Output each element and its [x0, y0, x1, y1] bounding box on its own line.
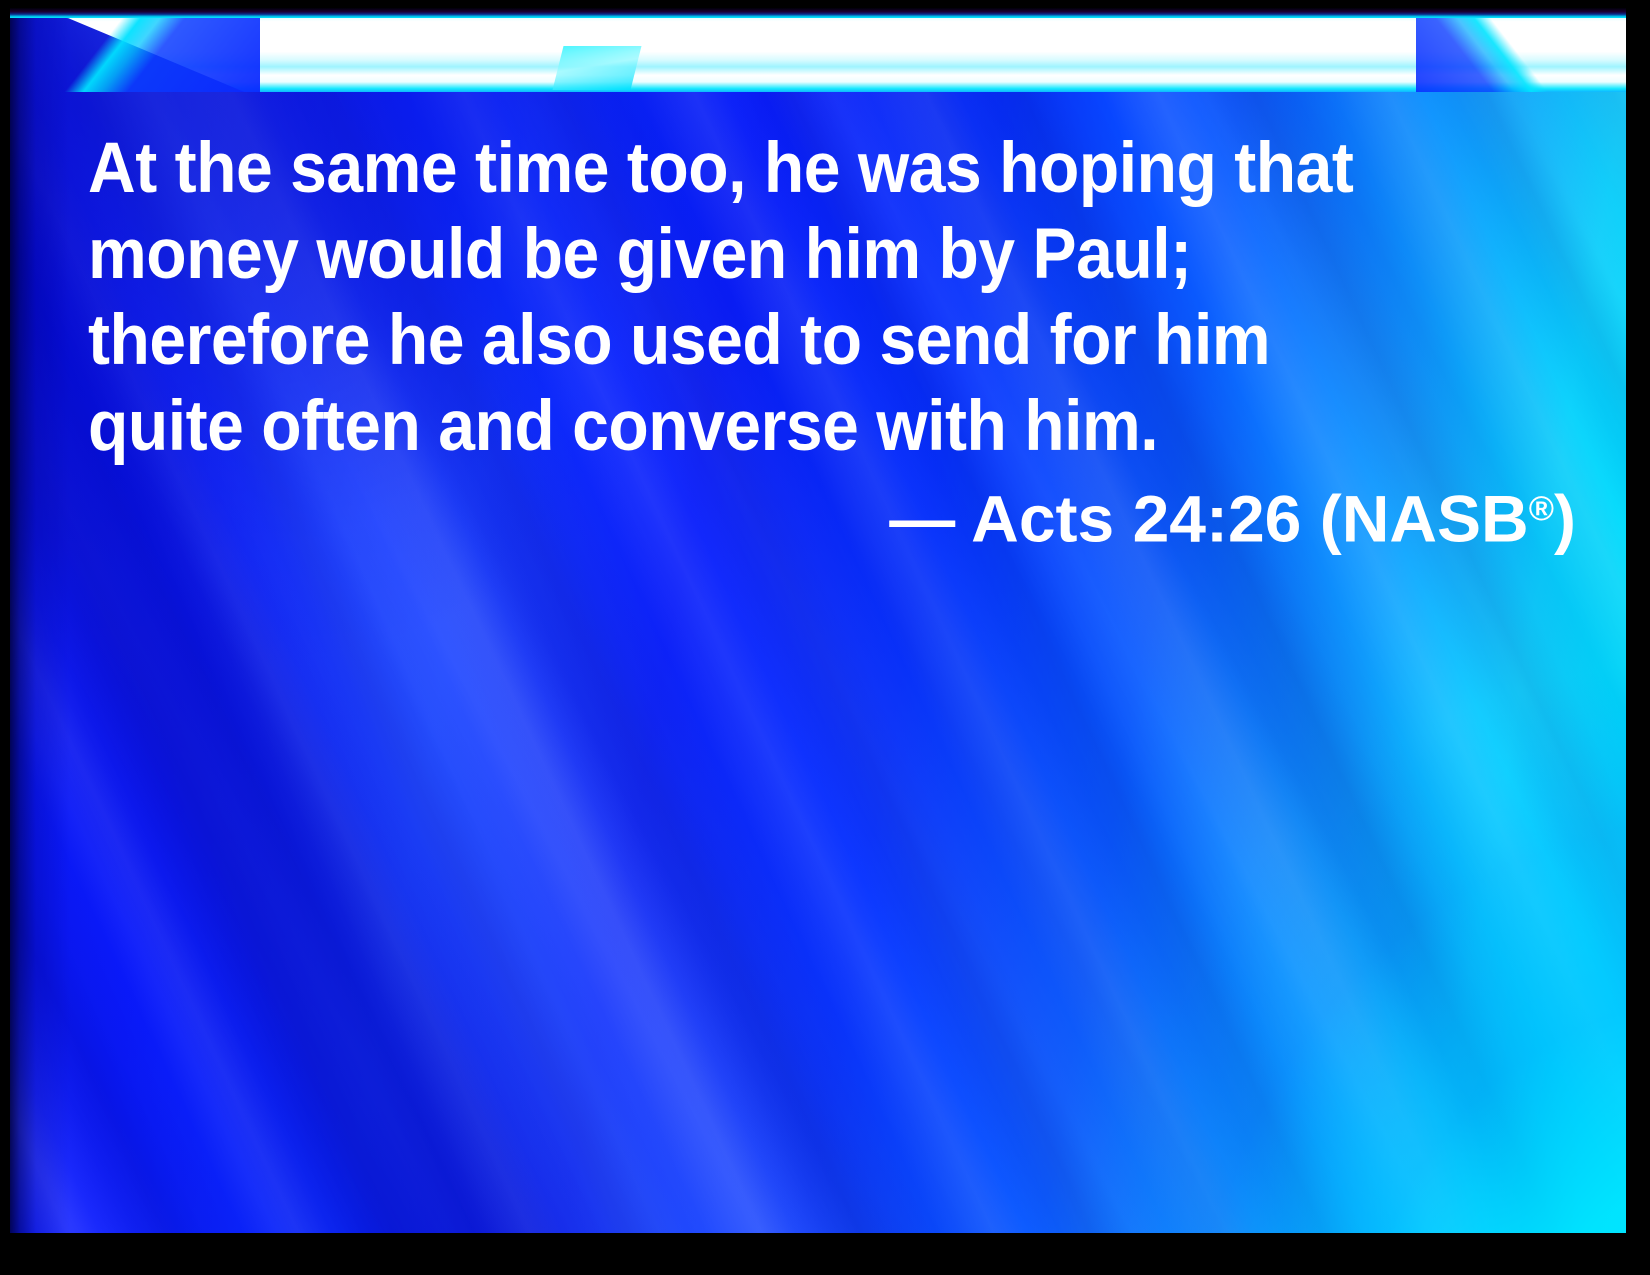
verse-reference: — Acts 24:26 (NASB®): [88, 468, 1576, 559]
top-band-edge-line: [10, 8, 1626, 18]
verse-line-2: money would be given him by Paul;: [88, 212, 1474, 298]
verse-reference-prefix: — Acts 24:26 (NASB: [889, 481, 1528, 555]
verse-line-1: At the same time too, he was hoping that: [88, 126, 1474, 212]
verse-text-block: At the same time too, he was hoping that…: [88, 126, 1578, 470]
registered-trademark-icon: ®: [1529, 490, 1554, 528]
verse-reference-suffix: ): [1554, 481, 1576, 555]
top-band-bevel-right: [1416, 8, 1626, 92]
top-band-bevel-left: [10, 8, 260, 92]
slide-artwork-background: At the same time too, he was hoping that…: [10, 8, 1626, 1233]
top-highlight-band: [10, 8, 1626, 92]
border-top: [0, 0, 1650, 8]
border-right: [1626, 0, 1650, 1275]
verse-slide: At the same time too, he was hoping that…: [0, 0, 1650, 1275]
top-band-notch: [553, 46, 642, 90]
verse-line-3: therefore he also used to send for him: [88, 298, 1474, 384]
verse-line-4: quite often and converse with him.: [88, 384, 1474, 470]
border-bottom: [0, 1233, 1650, 1275]
border-left: [0, 0, 10, 1275]
